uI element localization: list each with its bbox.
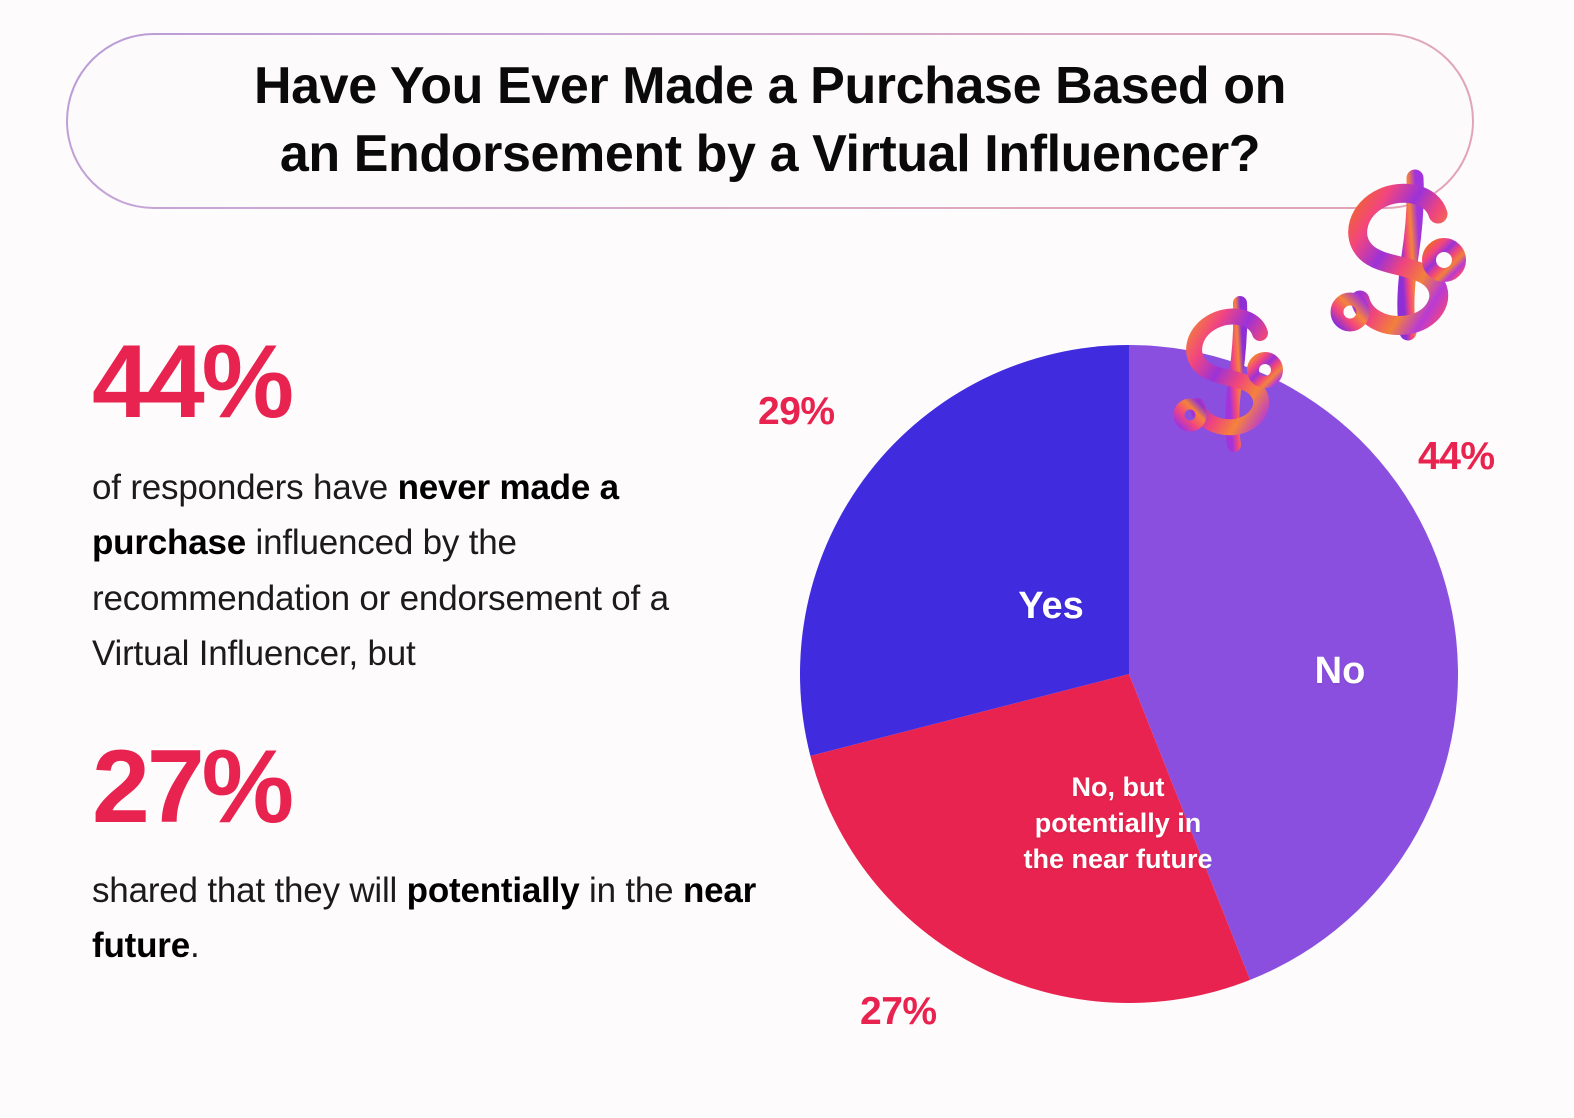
title-banner: Have You Ever Made a Purchase Based on a…: [66, 33, 1474, 209]
callout-percent-yes: 29%: [758, 390, 835, 434]
callout-percent-no: 44%: [1418, 435, 1495, 479]
stat-value-27: 27%: [92, 735, 762, 839]
stat-block-never-purchased: 44% of responders have never made a purc…: [92, 330, 762, 681]
callout-percent-no-but: 27%: [860, 990, 937, 1034]
dollar-sign-icon-large: [1320, 160, 1470, 345]
pie-chart-svg: [800, 345, 1458, 1003]
page-title: Have You Ever Made a Purchase Based on a…: [214, 53, 1326, 188]
pie-chart-region: Yes No No, but potentially in the near f…: [700, 300, 1574, 1100]
page-title-line-2: an Endorsement by a Virtual Influencer?: [254, 121, 1286, 189]
stat-description-27: shared that they will potentially in the…: [92, 863, 762, 974]
stat-value-44: 44%: [92, 330, 762, 434]
stat-description-44: of responders have never made a purchase…: [92, 460, 762, 681]
pie-chart: Yes No No, but potentially in the near f…: [800, 345, 1458, 1003]
statistics-column: 44% of responders have never made a purc…: [92, 330, 762, 974]
stat-block-potentially-future: 27% shared that they will potentially in…: [92, 735, 762, 974]
dollar-sign-icon-small: [1168, 293, 1288, 453]
page-title-line-1: Have You Ever Made a Purchase Based on: [254, 53, 1286, 121]
